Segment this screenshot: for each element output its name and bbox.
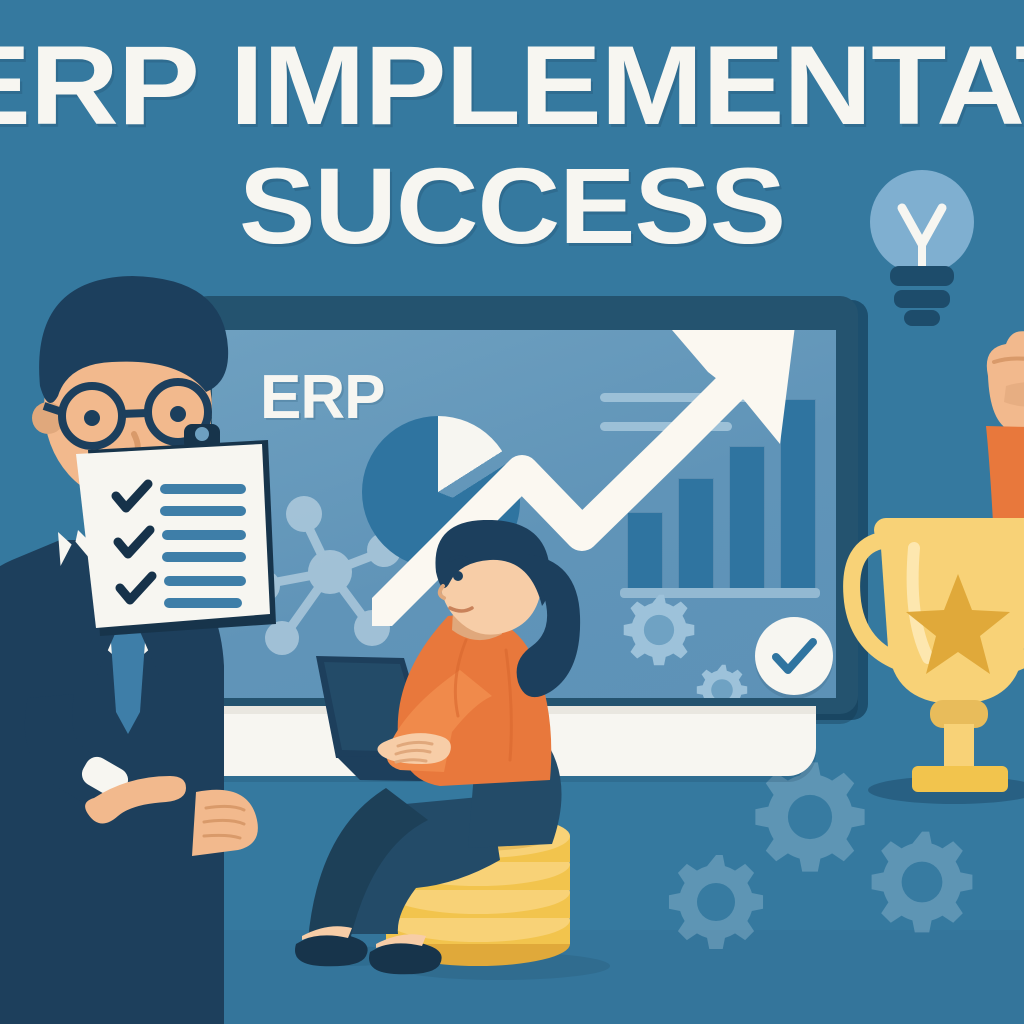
check-icon xyxy=(755,617,833,695)
gear-icon xyxy=(660,846,772,958)
illustration-canvas: ERP xyxy=(0,0,1024,1024)
lightbulb-icon xyxy=(862,160,982,340)
gear-icon xyxy=(692,660,752,698)
trophy-icon xyxy=(836,478,1024,808)
clipboard xyxy=(56,418,276,638)
check-circle-icon xyxy=(755,617,833,695)
gear-icon xyxy=(862,822,982,942)
headline-line-1: ERP IMPLEMENTATION xyxy=(0,30,1024,142)
woman-with-laptop xyxy=(280,520,660,990)
